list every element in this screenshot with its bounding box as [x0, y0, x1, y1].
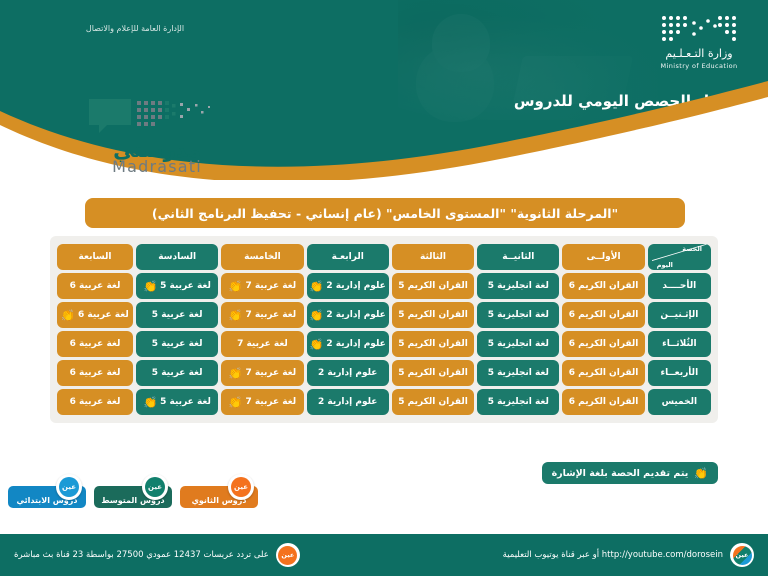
day-cell-4: الأربعــاء [648, 360, 711, 386]
lesson-cell-r5-c1: القران الكريم 6 [562, 389, 644, 415]
lesson-label: لغة انجليزية 5 [488, 368, 549, 378]
lesson-cell-r3-c2: لغة انجليزية 5 [477, 331, 559, 357]
legend-text: يتم تقديم الحصة بلغة الإشارة [552, 468, 689, 479]
lesson-cell-r1-c2: لغة انجليزية 5 [477, 273, 559, 299]
lesson-label: لغة عربية 5 [152, 339, 203, 349]
period-header-2: الثانيــة [477, 244, 559, 270]
channel-badge-1[interactable]: عيندروس الثانوي [180, 486, 258, 508]
lesson-label: لغة انجليزية 5 [488, 310, 549, 320]
table-row: الثُلاثــاءالقران الكريم 6لغة انجليزية 5… [57, 331, 711, 357]
corner-day-label: اليوم [657, 261, 673, 269]
madrasati-mark-icon [72, 95, 242, 137]
lesson-cell-r2-c2: لغة انجليزية 5 [477, 302, 559, 328]
lesson-label: لغة عربية 7 [245, 397, 296, 407]
lesson-cell-r3-c6: لغة عربية 5 [136, 331, 218, 357]
moe-dots-icon [660, 14, 738, 42]
lesson-cell-r5-c3: القران الكريم 5 [392, 389, 474, 415]
period-header-3: الثالثة [392, 244, 474, 270]
channel-badges: عيندروس الثانويعيندروس المتوسطعيندروس ال… [8, 486, 258, 508]
lesson-cell-r4-c7: لغة عربية 6 [57, 360, 133, 386]
lesson-label: علوم إدارية 2 [326, 339, 385, 349]
ain-label: عين [145, 477, 165, 497]
sign-language-hand-icon: 👏 [694, 468, 708, 479]
day-cell-2: الإثـنيــن [648, 302, 711, 328]
table-row: الأربعــاءالقران الكريم 6لغة انجليزية 5ا… [57, 360, 711, 386]
youtube-footer-label: أو عبر قناة يوتيوب التعليمية [503, 550, 599, 560]
channel-badge-3[interactable]: عيندروس الابتدائي [8, 486, 86, 508]
lesson-label: لغة انجليزية 5 [488, 281, 549, 291]
footer-bar: عين http://youtube.com/dorosein أو عبر ق… [0, 534, 768, 576]
program-title-banner: "المرحلة الثانوية" "المستوى الخامس" (عام… [85, 198, 685, 228]
table-row: الأحــــدالقران الكريم 6لغة انجليزية 5ال… [57, 273, 711, 299]
sign-language-hand-icon: 👏 [229, 397, 243, 408]
lesson-label: لغة عربية 7 [245, 368, 296, 378]
lesson-cell-r2-c3: القران الكريم 5 [392, 302, 474, 328]
lesson-cell-r4-c1: القران الكريم 6 [562, 360, 644, 386]
sign-language-hand-icon: 👏 [143, 281, 157, 292]
lesson-cell-r1-c5: لغة عربية 7👏 [221, 273, 303, 299]
lesson-cell-r2-c5: لغة عربية 7👏 [221, 302, 303, 328]
sign-language-hand-icon: 👏 [143, 397, 157, 408]
ain-label-footer-youtube: عين [733, 546, 752, 565]
lesson-label: القران الكريم 6 [569, 310, 639, 320]
lesson-label: القران الكريم 5 [398, 281, 468, 291]
lesson-cell-r3-c1: القران الكريم 6 [562, 331, 644, 357]
lesson-cell-r5-c2: لغة انجليزية 5 [477, 389, 559, 415]
lesson-cell-r5-c7: لغة عربية 6 [57, 389, 133, 415]
corner-period-label: الحصة [682, 245, 702, 253]
lesson-cell-r5-c5: لغة عربية 7👏 [221, 389, 303, 415]
period-header-4: الرابعـة [307, 244, 389, 270]
lesson-cell-r1-c4: علوم إدارية 2👏 [307, 273, 389, 299]
lesson-cell-r3-c4: علوم إدارية 2👏 [307, 331, 389, 357]
lesson-label: القران الكريم 6 [569, 339, 639, 349]
lesson-label: القران الكريم 6 [569, 281, 639, 291]
madrasati-name-english: Madrasati [72, 157, 242, 176]
lesson-cell-r4-c6: لغة عربية 5 [136, 360, 218, 386]
day-cell-1: الأحــــد [648, 273, 711, 299]
lesson-label: لغة انجليزية 5 [488, 397, 549, 407]
sign-language-hand-icon: 👏 [229, 281, 243, 292]
lesson-label: لغة انجليزية 5 [488, 339, 549, 349]
lesson-cell-r2-c7: لغة عربية 6👏 [57, 302, 133, 328]
lesson-label: علوم إدارية 2 [318, 397, 377, 407]
ain-logo-icon: عين [228, 474, 254, 500]
lesson-label: لغة عربية 5 [152, 368, 203, 378]
lesson-label: القران الكريم 6 [569, 397, 639, 407]
table-row: الإثـنيــنالقران الكريم 6لغة انجليزية 5ا… [57, 302, 711, 328]
youtube-footer-text: http://youtube.com/dorosein أو عبر قناة … [503, 550, 723, 560]
ain-logo-icon: عين [142, 474, 168, 500]
lesson-label: القران الكريم 5 [398, 397, 468, 407]
lesson-cell-r3-c3: القران الكريم 5 [392, 331, 474, 357]
channel-badge-2[interactable]: عيندروس المتوسط [94, 486, 172, 508]
lesson-cell-r1-c7: لغة عربية 6 [57, 273, 133, 299]
lesson-label: علوم إدارية 2 [318, 368, 377, 378]
sign-language-hand-icon: 👏 [61, 310, 75, 321]
sign-language-legend: 👏 يتم تقديم الحصة بلغة الإشارة [542, 462, 718, 484]
ain-orange-icon: عين [276, 543, 300, 567]
lesson-label: لغة عربية 5 [160, 281, 211, 291]
lesson-label: لغة عربية 7 [237, 339, 288, 349]
department-label: الإدارة العامة للإعلام والاتصال [70, 24, 200, 33]
lesson-label: لغة عربية 6 [70, 281, 121, 291]
lesson-cell-r4-c5: لغة عربية 7👏 [221, 360, 303, 386]
schedule-table: الحصةاليومالأولــىالثانيــةالثالثةالرابع… [54, 241, 714, 418]
satellite-footer-text: على تردد عربسات 12437 عمودي 27500 بواسطة… [14, 550, 269, 560]
lesson-label: علوم إدارية 2 [326, 310, 385, 320]
period-header-7: السابعة [57, 244, 133, 270]
lesson-cell-r4-c4: علوم إدارية 2 [307, 360, 389, 386]
lesson-cell-r1-c1: القران الكريم 6 [562, 273, 644, 299]
ain-label: عين [231, 477, 251, 497]
lesson-cell-r5-c6: لغة عربية 5👏 [136, 389, 218, 415]
ain-label-footer-satellite: عين [278, 546, 297, 565]
ain-logo-icon: عين [56, 474, 82, 500]
lesson-label: لغة عربية 6 [78, 310, 129, 320]
day-cell-5: الخميس [648, 389, 711, 415]
sign-language-hand-icon: 👏 [310, 310, 324, 321]
lesson-label: لغة عربية 7 [245, 281, 296, 291]
schedule-table-body: الأحــــدالقران الكريم 6لغة انجليزية 5ال… [57, 273, 711, 415]
ain-multicolor-icon: عين [730, 543, 754, 567]
period-header-1: الأولــى [562, 244, 644, 270]
lesson-label: القران الكريم 5 [398, 339, 468, 349]
lesson-label: لغة عربية 5 [152, 310, 203, 320]
lesson-label: لغة عربية 6 [70, 339, 121, 349]
period-header-6: السادسة [136, 244, 218, 270]
table-corner-cell: الحصةاليوم [648, 244, 711, 270]
day-cell-3: الثُلاثــاء [648, 331, 711, 357]
table-row: الخميسالقران الكريم 6لغة انجليزية 5القرا… [57, 389, 711, 415]
sign-language-hand-icon: 👏 [229, 368, 243, 379]
ain-label: عين [59, 477, 79, 497]
youtube-footer-item[interactable]: عين http://youtube.com/dorosein أو عبر ق… [503, 543, 754, 567]
satellite-footer-item: عين على تردد عربسات 12437 عمودي 27500 بو… [14, 543, 300, 567]
sign-language-hand-icon: 👏 [310, 281, 324, 292]
lesson-label: لغة عربية 7 [245, 310, 296, 320]
lesson-cell-r2-c1: القران الكريم 6 [562, 302, 644, 328]
lesson-label: لغة عربية 6 [70, 368, 121, 378]
lesson-label: لغة عربية 5 [160, 397, 211, 407]
sign-language-hand-icon: 👏 [229, 310, 243, 321]
sign-language-hand-icon: 👏 [310, 339, 324, 350]
schedule-table-container: الحصةاليومالأولــىالثانيــةالثالثةالرابع… [50, 236, 718, 423]
lesson-cell-r4-c2: لغة انجليزية 5 [477, 360, 559, 386]
madrasati-logo: مدرستي Madrasati [72, 95, 242, 176]
lesson-cell-r4-c3: القران الكريم 5 [392, 360, 474, 386]
lesson-label: القران الكريم 5 [398, 310, 468, 320]
lesson-label: القران الكريم 6 [569, 368, 639, 378]
lesson-cell-r1-c3: القران الكريم 5 [392, 273, 474, 299]
period-header-5: الخامسة [221, 244, 303, 270]
lesson-cell-r2-c4: علوم إدارية 2👏 [307, 302, 389, 328]
lesson-cell-r1-c6: لغة عربية 5👏 [136, 273, 218, 299]
lesson-cell-r5-c4: علوم إدارية 2 [307, 389, 389, 415]
lesson-cell-r3-c5: لغة عربية 7 [221, 331, 303, 357]
youtube-url[interactable]: http://youtube.com/dorosein [602, 550, 723, 560]
lesson-cell-r2-c6: لغة عربية 5 [136, 302, 218, 328]
table-header-row: الحصةاليومالأولــىالثانيــةالثالثةالرابع… [57, 244, 711, 270]
lesson-label: لغة عربية 6 [70, 397, 121, 407]
lesson-label: القران الكريم 5 [398, 368, 468, 378]
lesson-cell-r3-c7: لغة عربية 6 [57, 331, 133, 357]
lesson-label: علوم إدارية 2 [326, 281, 385, 291]
